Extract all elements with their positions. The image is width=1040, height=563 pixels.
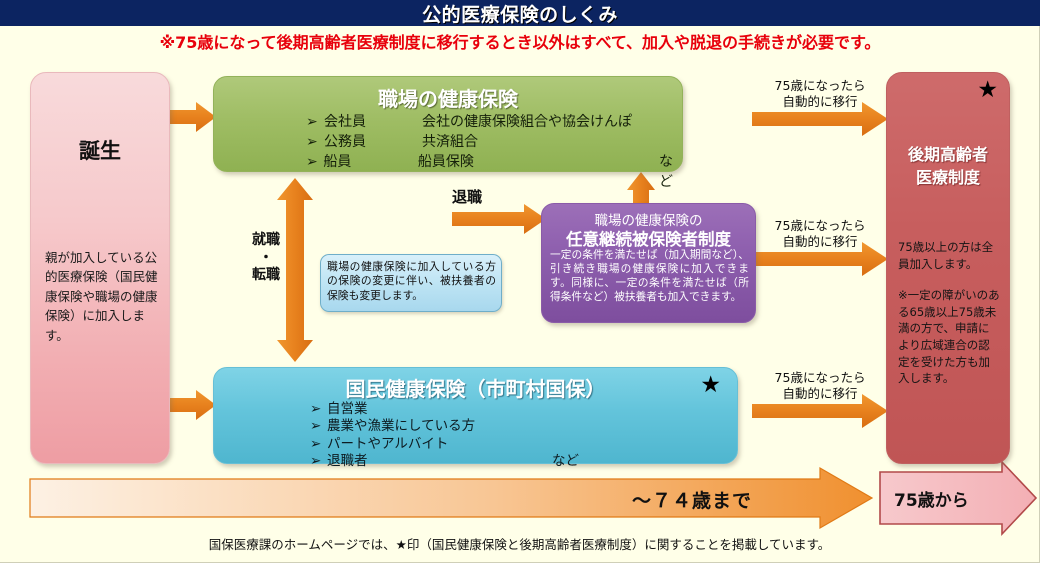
- elderly-title-line2: 医療制度: [887, 166, 1009, 189]
- page-title-bar: 公的医療保険のしくみ: [0, 0, 1040, 26]
- dependent-callout-text: 職場の健康保険に加入している方の保険の変更に伴い、被扶養者の保険も変更します。: [327, 260, 496, 303]
- list-item: ➢ 会社員 会社の健康保険組合や協会けんぽ: [306, 113, 686, 133]
- national-member-type: 農業や漁業にしている方: [327, 418, 552, 435]
- label-retirement: 退職: [452, 186, 482, 207]
- bullet-icon: ➢: [306, 133, 324, 153]
- band-until-74-label: 〜７４歳まで: [632, 486, 752, 513]
- national-title: 国民健康保険（市町村国保）: [214, 373, 737, 402]
- workplace-insurance-box: 職場の健康保険 ➢ 会社員 会社の健康保険組合や協会けんぽ ➢ 公務員 共済組合…: [213, 76, 683, 172]
- label-job-change-dot: ・: [240, 250, 292, 268]
- list-item: ➢ パートやアルバイト: [310, 436, 579, 453]
- national-list: ➢ 自営業 ➢ 農業や漁業にしている方 ➢ パートやアルバイト ➢ 退職者 など: [310, 401, 579, 471]
- arrow-birth-to-national: [170, 390, 216, 420]
- page-title: 公的医療保険のしくみ: [422, 0, 618, 27]
- workplace-member-type: 会社員: [324, 113, 422, 133]
- label-transfer-bottom-line2: 自動的に移行: [760, 386, 880, 402]
- label-job-change-line2: 転職: [240, 267, 292, 285]
- national-insurance-box: 国民健康保険（市町村国保） ★ ➢ 自営業 ➢ 農業や漁業にしている方 ➢ パー…: [213, 367, 738, 464]
- workplace-member-type: 船員: [323, 153, 418, 193]
- elderly-title-line1: 後期高齢者: [887, 143, 1009, 166]
- bullet-icon: ➢: [310, 453, 327, 470]
- elderly-medical-box: ★ 後期高齢者 医療制度 75歳以上の方は全員加入します。 ※一定の障がいのある…: [886, 72, 1010, 464]
- label-job-change-line1: 就職: [240, 232, 292, 250]
- bullet-icon: ➢: [310, 418, 327, 435]
- label-transfer-middle-line2: 自動的に移行: [760, 234, 880, 250]
- elderly-title: 後期高齢者 医療制度: [887, 143, 1009, 189]
- bullet-icon: ➢: [310, 436, 327, 453]
- label-job-change: 就職 ・ 転職: [240, 232, 292, 285]
- bullet-icon: ➢: [306, 113, 324, 133]
- birth-title: 誕生: [31, 135, 169, 165]
- list-item: ➢ 退職者 など: [310, 453, 579, 470]
- national-etc: など: [552, 453, 579, 470]
- voluntary-description: 一定の条件を満たせば（加入期間など）、引き続き職場の健康保険に加入できます。同様…: [550, 248, 749, 305]
- national-member-type: パートやアルバイト: [327, 436, 552, 453]
- band-from-75-label: 75歳から: [894, 486, 969, 511]
- band-until-74: 〜７４歳まで: [30, 477, 872, 519]
- band-from-75: 75歳から: [878, 470, 1030, 526]
- workplace-plan-name: 会社の健康保険組合や協会けんぽ: [422, 113, 672, 133]
- list-item: ➢ 農業や漁業にしている方: [310, 418, 579, 435]
- star-icon: ★: [700, 374, 721, 397]
- birth-box: 誕生 親が加入している公的医療保険（国民健康保険や職場の健康保険）に加入します。: [30, 72, 170, 464]
- list-item: ➢ 公務員 共済組合: [306, 133, 686, 153]
- workplace-etc: など: [659, 153, 686, 193]
- label-transfer-middle-line1: 75歳になったら: [760, 218, 880, 234]
- notice-text: ※75歳になって後期高齢者医療制度に移行するとき以外はすべて、加入や脱退の手続き…: [160, 29, 881, 53]
- label-transfer-middle: 75歳になったら 自動的に移行: [760, 218, 880, 251]
- elderly-paragraph-1: 75歳以上の方は全員加入します。: [898, 239, 1001, 272]
- label-transfer-bottom: 75歳になったら 自動的に移行: [760, 370, 880, 403]
- bullet-icon: ➢: [306, 153, 323, 193]
- label-transfer-top: 75歳になったら 自動的に移行: [760, 78, 880, 111]
- dependent-callout-box: 職場の健康保険に加入している方の保険の変更に伴い、被扶養者の保険も変更します。: [320, 254, 502, 312]
- label-transfer-bottom-line1: 75歳になったら: [760, 370, 880, 386]
- workplace-member-type: 公務員: [324, 133, 422, 153]
- workplace-list: ➢ 会社員 会社の健康保険組合や協会けんぽ ➢ 公務員 共済組合 ➢ 船員 船員…: [306, 113, 686, 193]
- list-item: ➢ 船員 船員保険 など: [306, 153, 686, 193]
- diagram-canvas: 公的医療保険のしくみ ※75歳になって後期高齢者医療制度に移行するとき以外はすべ…: [0, 0, 1040, 563]
- label-transfer-top-line2: 自動的に移行: [760, 94, 880, 110]
- national-member-type: 退職者: [327, 453, 552, 470]
- arrow-birth-to-workplace: [170, 102, 216, 132]
- voluntary-title: 任意継続被保険者制度: [542, 226, 755, 250]
- voluntary-continuation-box: 職場の健康保険の 任意継続被保険者制度 一定の条件を満たせば（加入期間など）、引…: [541, 203, 756, 323]
- arrow-retire-to-voluntary: [452, 204, 546, 234]
- footnote: 国保医療課のホームページでは、★印（国民健康保険と後期高齢者医療制度）に関するこ…: [0, 534, 1039, 553]
- birth-description: 親が加入している公的医療保険（国民健康保険や職場の健康保険）に加入します。: [45, 248, 159, 345]
- workplace-title: 職場の健康保険: [214, 83, 682, 112]
- notice-banner: ※75歳になって後期高齢者医療制度に移行するとき以外はすべて、加入や脱退の手続き…: [0, 28, 1040, 54]
- national-member-type: 自営業: [327, 401, 552, 418]
- list-item: ➢ 自営業: [310, 401, 579, 418]
- bullet-icon: ➢: [310, 401, 327, 418]
- workplace-plan-name: 共済組合: [422, 133, 672, 153]
- elderly-paragraph-2: ※一定の障がいのある65歳以上75歳未満の方で、申請により広域連合の認定を受けた…: [898, 287, 1001, 387]
- label-transfer-top-line1: 75歳になったら: [760, 78, 880, 94]
- star-icon: ★: [977, 79, 998, 102]
